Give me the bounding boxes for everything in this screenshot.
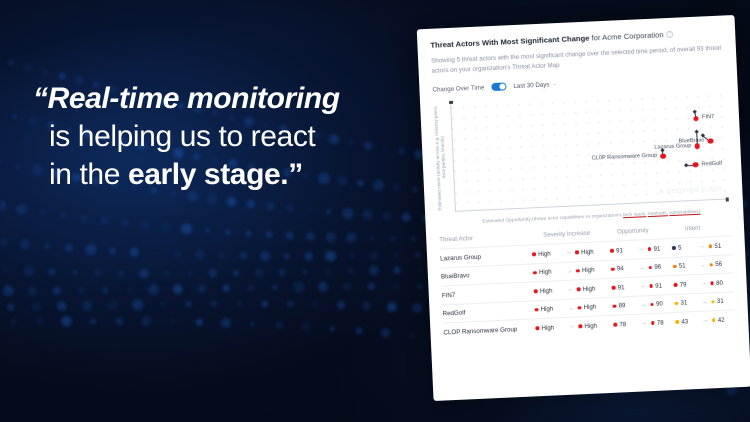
column-header-threat-actor: Threat Actor	[439, 233, 531, 244]
watermark-text: Recorded Future	[666, 184, 723, 196]
chart-y-axis-label: Estimated Intent (activity across e.g. i…	[433, 102, 448, 214]
status-dot	[672, 246, 676, 250]
quote-line-3-pre: in the	[49, 158, 128, 191]
cell-opportunity: 78→78	[613, 319, 675, 329]
status-dot	[650, 303, 654, 307]
status-dot	[712, 318, 716, 322]
table-body: Lazarus GroupHigh→High91→915→51BlueBravo…	[440, 236, 736, 342]
info-icon[interactable]	[666, 31, 673, 38]
change-over-time-label: Change Over Time	[432, 84, 484, 93]
status-dot	[610, 249, 614, 253]
status-dot	[708, 244, 712, 248]
status-dot	[576, 269, 580, 273]
quote-line-3-bold: early stage.”	[128, 158, 303, 191]
card-title-bold: Threat Actors With Most Significant Chan…	[430, 34, 589, 50]
change-arrow-icon: →	[564, 286, 577, 293]
cell-severity-increase: High→High	[534, 303, 612, 314]
value-to: 31	[711, 297, 735, 305]
change-arrow-icon: →	[634, 246, 647, 253]
chart-y-axis-cap	[449, 101, 453, 104]
threat-actor-scatter-chart: Estimated Intent (activity across e.g. i…	[433, 89, 730, 228]
cell-intent: 43→42	[675, 316, 735, 326]
value-text: 43	[681, 318, 688, 325]
scatter-point-label: RedGolf	[701, 160, 722, 167]
x-axis-link-tech-stack[interactable]: tech stack,	[623, 212, 647, 218]
value-text: High	[582, 267, 595, 275]
status-dot	[651, 321, 655, 325]
value-text: 31	[680, 299, 687, 306]
x-axis-label-part1: Estimated Opportunity (threat actor capa…	[482, 213, 623, 224]
scatter-trail-head	[693, 110, 698, 115]
status-dot	[532, 252, 536, 256]
status-dot	[534, 289, 538, 293]
value-text: High	[539, 269, 552, 277]
status-dot	[675, 320, 679, 324]
status-dot	[648, 266, 652, 270]
value-from: High	[532, 250, 562, 258]
value-to: 96	[648, 263, 673, 271]
column-header-opportunity: Opportunity	[609, 226, 671, 236]
change-arrow-icon: →	[564, 305, 577, 312]
status-dot	[533, 271, 537, 275]
value-text: 80	[716, 279, 723, 286]
value-from: 5	[672, 244, 696, 252]
value-from: High	[535, 324, 565, 332]
scatter-dot	[708, 138, 713, 143]
scatter-trail-head	[694, 130, 699, 135]
cell-intent: 51→56	[673, 260, 733, 270]
status-dot	[709, 263, 713, 267]
cell-threat-actor: RedGolf	[443, 306, 535, 317]
value-text: 31	[717, 298, 724, 305]
x-axis-link-vulnerabilities[interactable]: vulnerabilities)	[669, 209, 700, 215]
value-text: 91	[618, 284, 625, 291]
value-to: 90	[650, 300, 675, 308]
value-from: High	[534, 305, 564, 313]
value-from: 79	[673, 280, 697, 288]
change-over-time-toggle[interactable]	[491, 82, 506, 91]
cell-severity-increase: High→High	[534, 284, 612, 295]
status-dot	[674, 302, 678, 306]
card-description: Showing 5 threat actors with the most si…	[431, 44, 724, 77]
value-text: 94	[617, 265, 624, 272]
value-text: High	[538, 250, 551, 258]
value-to: 78	[651, 319, 676, 327]
value-from: 78	[613, 320, 638, 328]
value-to: 80	[710, 279, 734, 287]
change-arrow-icon: →	[562, 249, 575, 256]
status-dot	[577, 306, 581, 310]
quote-line-3: in the early stage.”	[33, 156, 423, 194]
value-to: 51	[708, 242, 732, 250]
status-dot	[612, 286, 616, 290]
value-text: 91	[616, 247, 623, 254]
change-arrow-icon: →	[695, 243, 708, 250]
status-dot	[534, 308, 538, 312]
status-dot	[578, 324, 582, 328]
value-text: High	[583, 285, 596, 293]
value-text: 51	[714, 242, 721, 249]
threat-actor-table: Threat Actor Severity Increase Opportuni…	[439, 221, 736, 342]
value-to: High	[577, 285, 607, 293]
value-from: 94	[611, 265, 636, 273]
value-text: High	[581, 248, 594, 256]
scatter-dot	[695, 143, 700, 148]
scatter-dot	[693, 116, 698, 121]
value-from: 91	[611, 283, 636, 291]
value-to: High	[578, 322, 608, 330]
scatter-dot	[660, 153, 665, 158]
cell-opportunity: 91→91	[610, 245, 672, 255]
status-dot	[649, 284, 653, 288]
scatter-point-label: FIN7	[702, 114, 714, 121]
value-text: 78	[619, 321, 626, 328]
value-from: 91	[610, 246, 635, 254]
value-text: 42	[718, 316, 725, 323]
cell-threat-actor: CLOP Ransomware Group	[443, 325, 535, 336]
value-from: 43	[675, 317, 699, 325]
value-text: 96	[654, 264, 661, 271]
change-arrow-icon: →	[697, 280, 710, 287]
change-arrow-icon: →	[698, 299, 711, 306]
value-to: High	[577, 303, 607, 311]
status-dot	[647, 247, 651, 251]
card-title-subject: for Acme Corporation	[589, 30, 664, 42]
scatter-point-label: CL0P Ransomware Group	[592, 153, 658, 162]
cell-severity-increase: High→High	[533, 266, 611, 277]
recorded-future-logo-icon: ⊕	[658, 187, 664, 195]
value-to: 91	[647, 245, 672, 253]
time-range-select[interactable]: Last 30 Days ⌄	[513, 81, 557, 90]
change-arrow-icon: →	[565, 323, 578, 330]
cell-intent: 31→31	[674, 297, 734, 307]
change-arrow-icon: →	[635, 265, 648, 272]
status-dot	[612, 304, 616, 308]
value-text: 89	[618, 302, 625, 309]
value-text: 91	[655, 282, 662, 289]
time-range-value: Last 30 Days	[513, 81, 549, 90]
value-text: High	[583, 304, 596, 312]
column-header-intent: Intent	[671, 224, 731, 234]
x-axis-link-methods[interactable]: methods,	[648, 211, 668, 217]
value-from: 31	[674, 299, 698, 307]
cell-opportunity: 91→91	[611, 282, 673, 292]
value-text: 90	[656, 301, 663, 308]
cell-intent: 5→51	[672, 242, 732, 252]
cell-threat-actor: FIN7	[442, 288, 534, 299]
status-dot	[613, 323, 617, 327]
cell-threat-actor: BlueBravo	[441, 269, 533, 280]
quote-line-1: “Real-time monitoring	[33, 80, 423, 118]
value-text: High	[584, 322, 597, 330]
status-dot	[711, 300, 715, 304]
scatter-dot	[693, 162, 698, 167]
status-dot	[611, 267, 615, 271]
change-arrow-icon: →	[637, 302, 650, 309]
status-dot	[535, 326, 539, 330]
value-from: High	[534, 287, 564, 295]
value-to: 42	[712, 316, 736, 324]
value-to: 91	[649, 282, 674, 290]
change-arrow-icon: →	[699, 317, 712, 324]
change-arrow-icon: →	[696, 262, 709, 269]
scatter-trail-head	[684, 163, 689, 168]
cell-opportunity: 94→96	[611, 263, 673, 273]
status-dot	[575, 251, 579, 255]
value-text: 91	[653, 245, 660, 252]
value-to: 56	[709, 260, 733, 268]
value-to: High	[576, 266, 606, 274]
cell-opportunity: 89→90	[612, 300, 674, 310]
value-text: High	[541, 324, 554, 332]
change-arrow-icon: →	[563, 268, 576, 275]
quote-headline: “Real-time monitoring is helping us to r…	[33, 80, 423, 194]
change-arrow-icon: →	[636, 283, 649, 290]
threat-actor-card: Threat Actors With Most Significant Chan…	[417, 15, 750, 401]
quote-line-2: is helping us to react	[33, 118, 423, 156]
column-header-severity-increase: Severity Increase	[531, 229, 609, 240]
chart-y-axis-line	[450, 102, 456, 212]
change-arrow-icon: →	[638, 320, 651, 327]
value-text: High	[540, 287, 553, 295]
status-dot	[577, 287, 581, 291]
value-text: 79	[680, 281, 687, 288]
recorded-future-watermark: ⊕ Recorded Future	[658, 184, 723, 196]
value-to: High	[575, 248, 605, 256]
value-text: 56	[715, 261, 722, 268]
chart-plot-area[interactable]: ⊕ Recorded Future FIN7BlueBravoLazarus G…	[447, 89, 730, 213]
value-from: 51	[673, 262, 697, 270]
value-from: 89	[612, 302, 637, 310]
status-dot	[710, 281, 714, 285]
cell-intent: 79→80	[673, 279, 733, 289]
value-text: 78	[657, 319, 664, 326]
cell-severity-increase: High→High	[532, 247, 610, 258]
chart-x-axis-cap	[726, 198, 729, 202]
toggle-knob	[499, 84, 505, 90]
value-text: 5	[678, 244, 682, 251]
chevron-down-icon: ⌄	[552, 81, 556, 87]
value-text: High	[540, 306, 553, 314]
cell-severity-increase: High→High	[535, 321, 613, 332]
value-from: High	[533, 268, 563, 276]
status-dot	[673, 265, 677, 269]
cell-threat-actor: Lazarus Group	[440, 251, 532, 262]
status-dot	[674, 283, 678, 287]
value-text: 51	[679, 262, 686, 269]
